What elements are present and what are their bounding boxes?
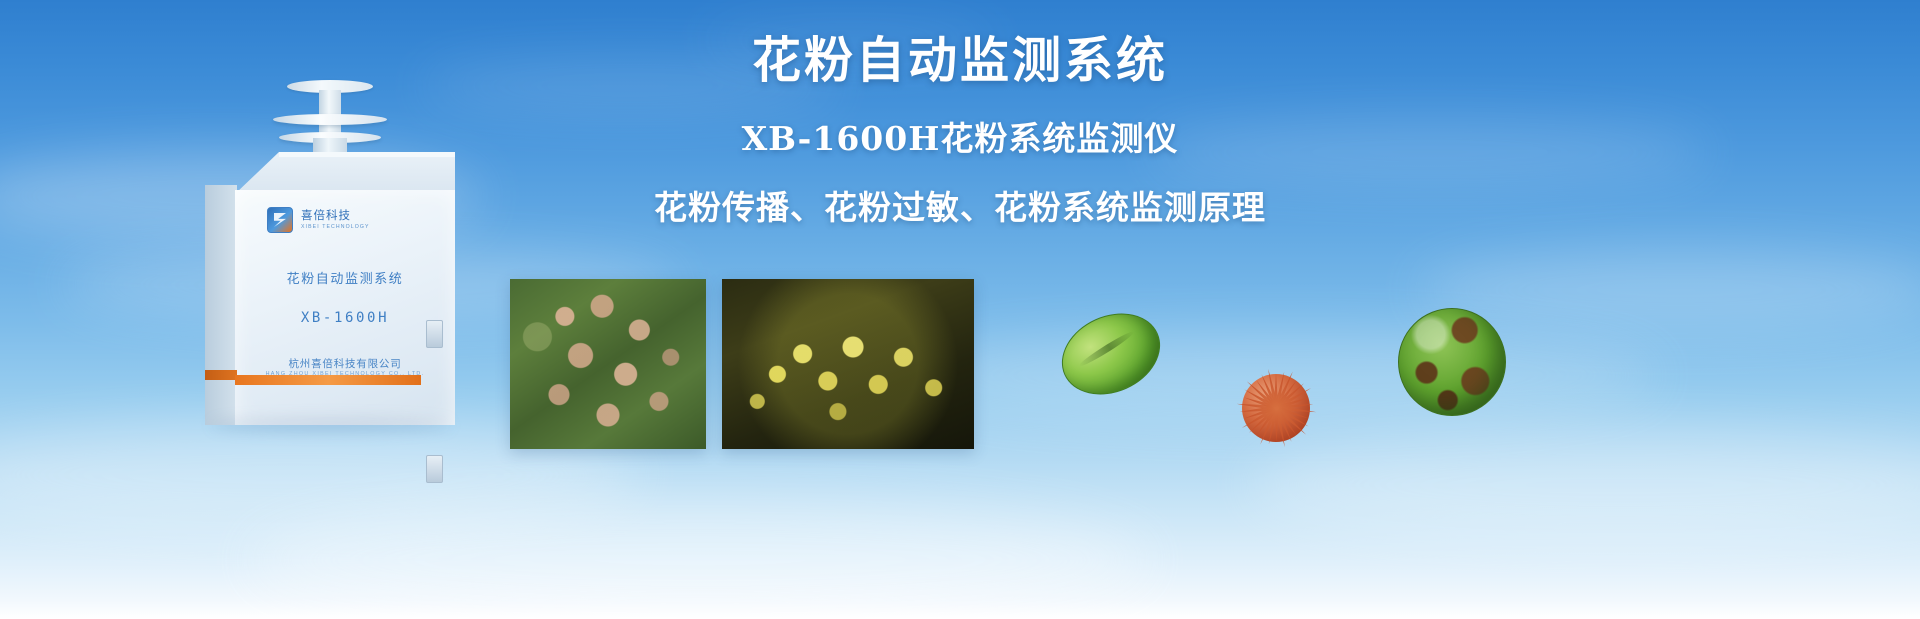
banner-subtitle-model: XB-1600H花粉系统监测仪	[560, 118, 1360, 161]
device-top-lid	[205, 152, 455, 194]
device-top-edge	[279, 152, 455, 157]
device-latch[interactable]	[426, 320, 443, 348]
xibei-logo-icon	[267, 207, 293, 233]
device-model-number: XB-1600H	[235, 310, 455, 326]
device-ground-shadow	[211, 418, 451, 432]
device-product-name: 花粉自动监测系统	[235, 268, 455, 287]
banner-title: 花粉自动监测系统	[560, 30, 1360, 92]
pollen-monitoring-banner: 花粉自动监测系统 XB-1600H花粉系统监测仪 花粉传播、花粉过敏、花粉系统监…	[0, 0, 1920, 619]
mottled-green-grain-icon	[1398, 308, 1506, 416]
device-brand-en: XIBEI TECHNOLOGY	[301, 224, 370, 230]
cloud-decoration	[1250, 430, 1920, 540]
pollen-monitor-device: 喜倍科技 XIBEI TECHNOLOGY 花粉自动监测系统 XB-1600H …	[205, 80, 455, 425]
device-accent-stripe-side	[205, 370, 237, 380]
device-accent-stripe	[235, 375, 421, 385]
cypress-cones-photo	[510, 279, 706, 449]
device-side-panel	[205, 185, 237, 425]
device-brand-cn: 喜倍科技	[301, 210, 370, 223]
device-inlet-neck	[319, 90, 341, 134]
headline-block: 花粉自动监测系统 XB-1600H花粉系统监测仪 花粉传播、花粉过敏、花粉系统监…	[560, 30, 1360, 230]
device-latch[interactable]	[426, 455, 443, 483]
device-company-cn: 杭州喜倍科技有限公司	[235, 356, 455, 371]
device-inlet-disc	[273, 114, 387, 125]
device-brand-logo: 喜倍科技 XIBEI TECHNOLOGY	[267, 207, 370, 233]
green-ellipsoid-grain-icon	[1049, 299, 1173, 410]
cloud-decoration	[250, 500, 1150, 619]
device-front-panel: 喜倍科技 XIBEI TECHNOLOGY 花粉自动监测系统 XB-1600H …	[235, 190, 455, 425]
catkin-pollen-photo	[722, 279, 974, 449]
cloud-decoration	[1420, 250, 1920, 330]
banner-subtitle-topics: 花粉传播、花粉过敏、花粉系统监测原理	[560, 187, 1360, 230]
spiky-orange-grain-icon	[1228, 360, 1324, 456]
device-brand-text: 喜倍科技 XIBEI TECHNOLOGY	[301, 210, 370, 229]
